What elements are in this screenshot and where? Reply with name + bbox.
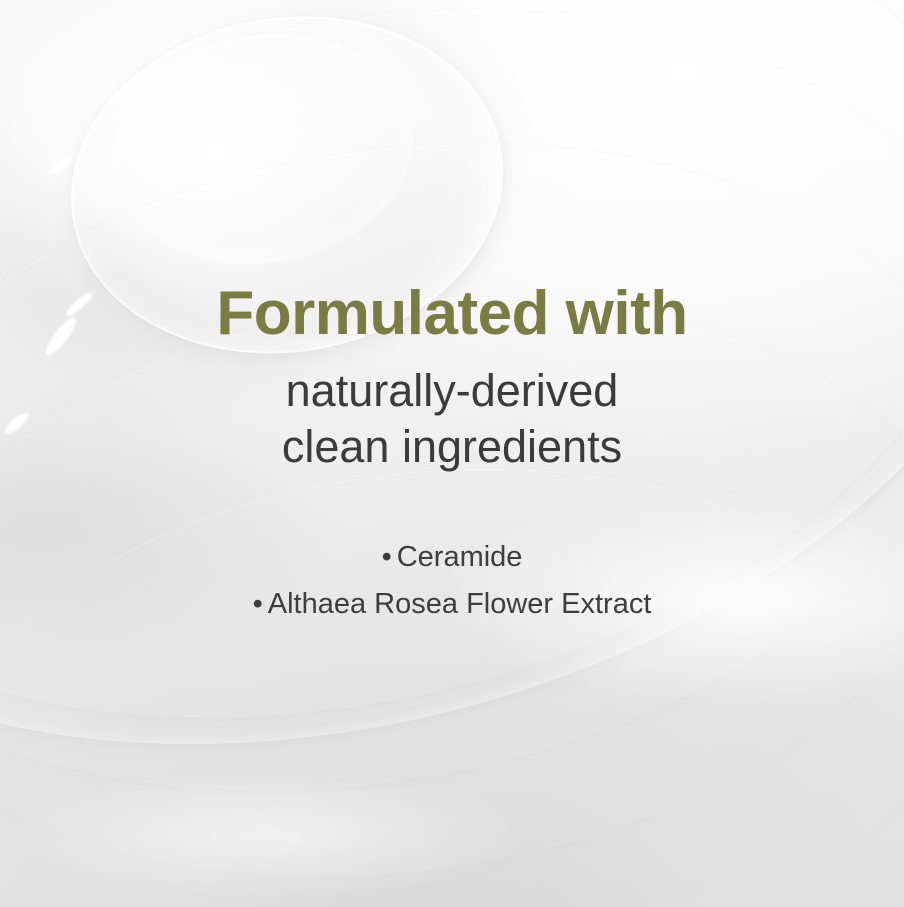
headline: Formulated with: [216, 283, 687, 345]
ingredient-label: Ceramide: [397, 541, 523, 573]
bullet-icon: •: [382, 534, 392, 581]
list-item: •Althaea Rosea Flower Extract: [253, 581, 652, 628]
ingredient-list: •Ceramide •Althaea Rosea Flower Extract: [253, 534, 652, 628]
subheadline-line-2: clean ingredients: [282, 419, 622, 475]
ingredient-label: Althaea Rosea Flower Extract: [268, 588, 652, 620]
slide-content: Formulated with naturally-derived clean …: [0, 0, 904, 907]
subheadline-line-1: naturally-derived: [282, 363, 622, 419]
list-item: •Ceramide: [253, 534, 652, 581]
product-ingredients-slide: Formulated with naturally-derived clean …: [0, 0, 904, 907]
bullet-icon: •: [253, 581, 263, 628]
subheadline: naturally-derived clean ingredients: [282, 363, 622, 475]
